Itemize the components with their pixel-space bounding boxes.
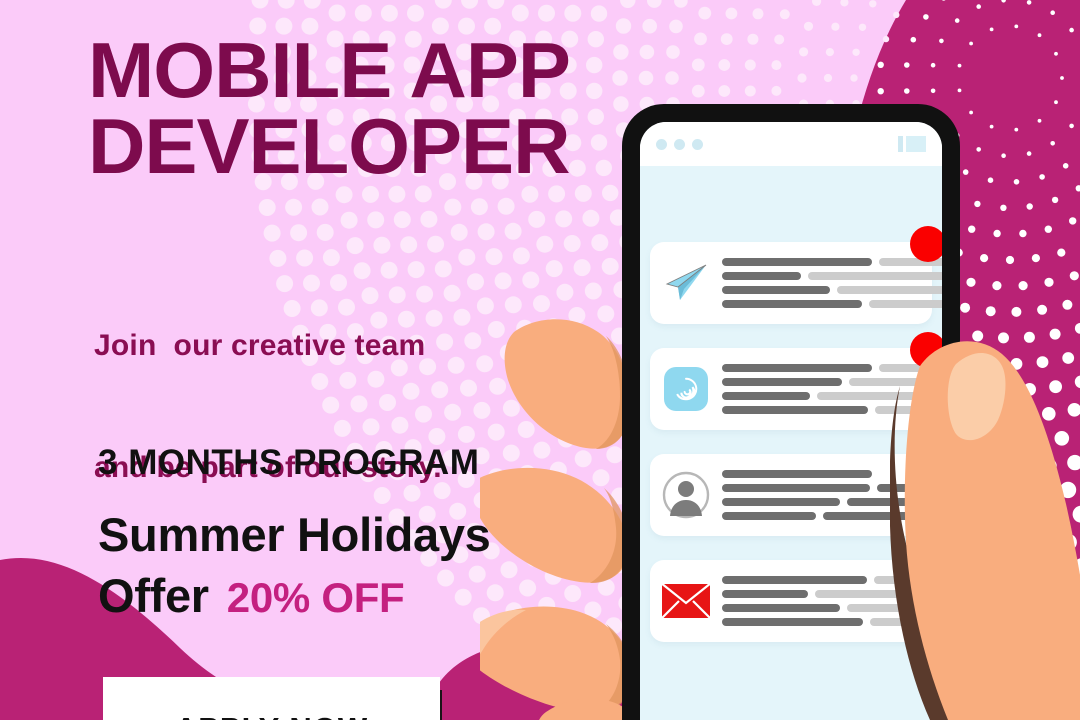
halftone-dot [941, 0, 947, 1]
halftone-dot [1001, 0, 1006, 3]
halftone-dot [955, 18, 960, 23]
notification-badge[interactable] [910, 332, 942, 368]
notification-text-line [722, 590, 942, 598]
halftone-dot [976, 147, 981, 152]
halftone-dot [1041, 640, 1058, 657]
notification-text-line [722, 300, 942, 308]
notification-card[interactable] [650, 242, 932, 324]
halftone-dot [974, 201, 980, 207]
notification-list [640, 166, 942, 666]
halftone-dot [831, 23, 839, 31]
text-placeholder-segment [722, 272, 801, 280]
text-placeholder-segment [722, 300, 862, 308]
notification-text-lines [722, 470, 942, 520]
mail-icon [660, 582, 712, 620]
headline-line-1: MOBILE APP [88, 32, 659, 108]
text-placeholder-segment [837, 286, 942, 294]
halftone-dot [986, 306, 996, 316]
notification-text-line [722, 286, 942, 294]
halftone-dot [982, 537, 999, 554]
halftone-dot [958, 64, 962, 68]
halftone-dot [883, 36, 889, 42]
text-placeholder-segment [847, 498, 942, 506]
halftone-dot [1011, 307, 1021, 317]
text-column: MOBILE APP DEVELOPER Join our creative t… [0, 0, 640, 720]
notification-text-line [722, 272, 942, 280]
halftone-dot [1023, 383, 1036, 396]
halftone-dot [976, 615, 993, 632]
halftone-dot [1015, 641, 1032, 658]
text-placeholder-segment [808, 272, 942, 280]
halftone-dot [1057, 249, 1065, 257]
text-placeholder-segment [722, 618, 863, 626]
offer-line-1: Summer Holidays [98, 504, 618, 565]
halftone-dot [995, 512, 1012, 529]
halftone-dot [1047, 561, 1064, 578]
halftone-dot [958, 89, 962, 93]
notification-icon-slot [650, 471, 722, 519]
halftone-dot [1016, 409, 1030, 423]
notification-text-lines [722, 364, 942, 414]
halftone-dot [989, 641, 1006, 658]
page-title: MOBILE APP DEVELOPER [88, 32, 659, 185]
text-placeholder-segment [869, 300, 942, 308]
halftone-dot [666, 45, 680, 59]
halftone-dot [1019, 281, 1028, 290]
halftone-dot [1076, 185, 1080, 191]
halftone-dot [840, 0, 848, 7]
notification-text-lines [722, 576, 942, 626]
notification-text-line [722, 484, 942, 492]
halftone-dot [1002, 616, 1019, 633]
halftone-dot [1052, 197, 1058, 203]
halftone-dot [1021, 693, 1038, 710]
phone-screen [640, 122, 942, 720]
halftone-dot [1047, 692, 1064, 709]
notification-text-line [722, 618, 942, 626]
notification-badge[interactable] [910, 544, 942, 580]
halftone-dot [1027, 151, 1032, 156]
halftone-dot [998, 332, 1009, 343]
halftone-dot [989, 460, 1004, 475]
halftone-dot [1060, 665, 1077, 682]
notification-text-line [722, 604, 942, 612]
halftone-dot [1000, 205, 1006, 211]
halftone-dot [1050, 141, 1055, 146]
text-placeholder-segment [870, 618, 942, 626]
text-placeholder-segment [722, 498, 840, 506]
halftone-dot [665, 71, 679, 85]
halftone-dot [1060, 482, 1076, 498]
notification-card[interactable] [650, 348, 932, 430]
halftone-dot [995, 564, 1012, 581]
halftone-dot [718, 85, 730, 97]
halftone-dot [1069, 124, 1074, 129]
halftone-dot [980, 254, 988, 262]
notification-text-line [722, 470, 942, 478]
halftone-dot [747, 34, 758, 45]
halftone-dot [1054, 100, 1058, 104]
halftone-dot [931, 89, 936, 94]
halftone-dot [1075, 323, 1080, 334]
halftone-dot [982, 485, 998, 501]
halftone-dot [1073, 558, 1080, 575]
halftone-dot [1050, 10, 1055, 15]
halftone-dot [726, 8, 738, 20]
halftone-dot [1044, 278, 1053, 287]
discount-badge: 20% OFF [227, 574, 405, 621]
halftone-dot [1045, 226, 1052, 233]
avatar-icon [662, 471, 710, 519]
halftone-dot [745, 86, 756, 97]
halftone-dot [1075, 375, 1080, 388]
offer-block: Summer Holidays Offer20% OFF [98, 504, 618, 626]
halftone-dot [647, 0, 662, 8]
subheadline-line-1: Join our creative team [94, 326, 594, 367]
halftone-dot [1034, 667, 1051, 684]
smartphone-mockup [622, 104, 972, 720]
halftone-dot [1032, 254, 1040, 262]
halftone-dot [1073, 689, 1080, 706]
halftone-dot [1041, 458, 1056, 473]
halftone-dot [1069, 217, 1076, 224]
halftone-dot [771, 60, 781, 70]
halftone-dot [1029, 434, 1044, 449]
text-placeholder-segment [722, 590, 808, 598]
halftone-dot [1070, 271, 1079, 280]
halftone-dot [1014, 128, 1018, 132]
notification-badge[interactable] [910, 438, 942, 474]
text-placeholder-segment [849, 378, 942, 386]
paper-plane-icon [664, 263, 708, 303]
halftone-dot [1008, 538, 1025, 555]
text-placeholder-segment [875, 406, 942, 414]
text-placeholder-segment [722, 258, 872, 266]
halftone-dot [745, 60, 756, 71]
halftone-dot [988, 177, 994, 183]
halftone-dot [878, 62, 884, 68]
halftone-dot [931, 63, 936, 68]
halftone-dot [977, 434, 992, 449]
halftone-dot [904, 62, 910, 68]
halftone-dot [1067, 455, 1080, 470]
text-placeholder-segment [722, 286, 830, 294]
halftone-dot [1001, 153, 1006, 158]
notification-badge[interactable] [910, 226, 942, 262]
halftone-dot [674, 0, 688, 8]
halftone-dot [923, 14, 929, 20]
halftone-dot [1068, 403, 1080, 417]
halftone-dot [826, 48, 834, 56]
halftone-dot [1006, 256, 1014, 264]
halftone-dot [992, 281, 1001, 290]
halftone-dot [852, 49, 859, 56]
halftone-dot [878, 88, 884, 94]
halftone-dot [1015, 589, 1032, 606]
text-placeholder-segment [722, 512, 816, 520]
halftone-dot [1034, 485, 1050, 501]
text-placeholder-segment [722, 364, 872, 372]
halftone-dot [1019, 230, 1026, 237]
halftone-dot [904, 88, 910, 94]
offer-line-2: Offer [98, 569, 209, 622]
text-placeholder-segment [722, 484, 870, 492]
halftone-dot [989, 589, 1006, 606]
halftone-dot [1034, 536, 1051, 553]
halftone-dot [1040, 588, 1057, 605]
halftone-dot [859, 24, 866, 31]
halftone-dot [1062, 352, 1074, 364]
notification-card[interactable] [650, 560, 932, 642]
text-placeholder-segment [722, 406, 868, 414]
halftone-dot [1008, 668, 1025, 685]
halftone-dot [997, 384, 1010, 397]
halftone-dot [812, 0, 821, 6]
halftone-dot [911, 37, 917, 43]
notification-text-line [722, 364, 942, 372]
halftone-dot [939, 39, 944, 44]
halftone-dot [993, 230, 1000, 237]
halftone-dot [1050, 329, 1061, 340]
apply-now-button[interactable]: APPLY NOW [103, 677, 440, 720]
status-block-icon [898, 136, 926, 152]
halftone-dot [1042, 407, 1056, 421]
halftone-dot [692, 85, 705, 98]
halftone-dot [1021, 563, 1038, 580]
halftone-dot [774, 35, 784, 45]
text-placeholder-segment [815, 590, 942, 598]
halftone-dot [1063, 163, 1069, 169]
halftone-dot [694, 33, 707, 46]
halftone-dot [799, 47, 808, 56]
halftone-dot [1024, 332, 1035, 343]
halftone-dot [971, 382, 984, 395]
halftone-dot [1037, 356, 1049, 368]
halftone-dot [804, 22, 813, 31]
halftone-dot [1053, 613, 1070, 630]
notification-text-line [722, 576, 942, 584]
program-duration-label: 3 MONTHS PROGRAM [98, 443, 479, 483]
halftone-dot [1028, 615, 1045, 632]
halftone-dot [797, 73, 806, 82]
notification-text-line [722, 498, 942, 506]
halftone-dot [780, 9, 790, 19]
text-placeholder-segment [823, 512, 942, 520]
halftone-dot [990, 28, 994, 32]
swirl-icon [664, 367, 708, 411]
notification-icon-slot [650, 263, 722, 303]
halftone-dot [1008, 486, 1024, 502]
halftone-dot [1069, 28, 1074, 33]
halftone-dot [669, 20, 683, 34]
text-placeholder-segment [847, 604, 942, 612]
halftone-dot [969, 42, 973, 46]
text-placeholder-segment [817, 392, 942, 400]
halftone-dot [1021, 511, 1038, 528]
halftone-dot [692, 59, 705, 72]
text-placeholder-segment [722, 378, 842, 386]
headline-line-2: DEVELOPER [88, 108, 659, 184]
halftone-dot [1015, 460, 1030, 475]
notification-text-line [722, 258, 942, 266]
notification-icon-slot [650, 367, 722, 411]
apply-now-button-label: APPLY NOW [175, 711, 368, 720]
text-placeholder-segment [722, 604, 840, 612]
halftone-dot [718, 59, 730, 71]
halftone-dot [1062, 300, 1072, 310]
halftone-dot [1027, 203, 1033, 209]
notification-icon-slot [650, 582, 722, 620]
halftone-dot [990, 125, 994, 129]
halftone-dot [1066, 586, 1080, 603]
phone-status-bar [640, 122, 942, 166]
halftone-dot [850, 74, 857, 81]
notification-text-line [722, 392, 942, 400]
notification-text-line [722, 406, 942, 414]
halftone-dot [976, 4, 981, 9]
window-dots-icon [656, 139, 703, 150]
halftone-dot [1038, 119, 1042, 123]
halftone-dot [982, 667, 999, 684]
halftone-dot [698, 7, 711, 20]
halftone-dot [869, 0, 876, 7]
halftone-dot [753, 8, 764, 19]
text-placeholder-segment [877, 484, 942, 492]
halftone-dot [1037, 305, 1047, 315]
halftone-dot [1003, 435, 1018, 450]
notification-text-line [722, 512, 942, 520]
poster-canvas: MOBILE APP DEVELOPER Join our creative t… [0, 0, 1080, 720]
halftone-dot [1067, 638, 1080, 655]
halftone-dot [1047, 509, 1064, 526]
text-placeholder-segment [722, 470, 872, 478]
halftone-dot [1038, 33, 1042, 37]
halftone-dot [1054, 52, 1058, 56]
halftone-dot [985, 357, 997, 369]
text-placeholder-segment [722, 392, 810, 400]
halftone-dot [1073, 506, 1080, 523]
halftone-dot [1027, 0, 1032, 5]
text-placeholder-segment [722, 576, 867, 584]
halftone-dot [972, 331, 983, 342]
halftone-dot [1014, 25, 1018, 29]
halftone-dot [1049, 380, 1062, 393]
notification-card[interactable] [650, 454, 932, 536]
halftone-dot [824, 74, 832, 82]
halftone-dot [1011, 358, 1023, 370]
halftone-dot [771, 86, 781, 96]
halftone-dot [1014, 179, 1020, 185]
notification-text-lines [722, 258, 942, 308]
halftone-dot [893, 12, 899, 18]
notification-text-line [722, 378, 942, 386]
halftone-dot [1060, 534, 1077, 551]
halftone-dot [1039, 174, 1045, 180]
halftone-dot [1055, 431, 1070, 446]
halftone-dot [1060, 76, 1064, 80]
halftone-dot [995, 694, 1012, 711]
offer-line-2-wrap: Offer20% OFF [98, 565, 618, 626]
halftone-dot [990, 409, 1004, 423]
halftone-dot [721, 33, 733, 45]
